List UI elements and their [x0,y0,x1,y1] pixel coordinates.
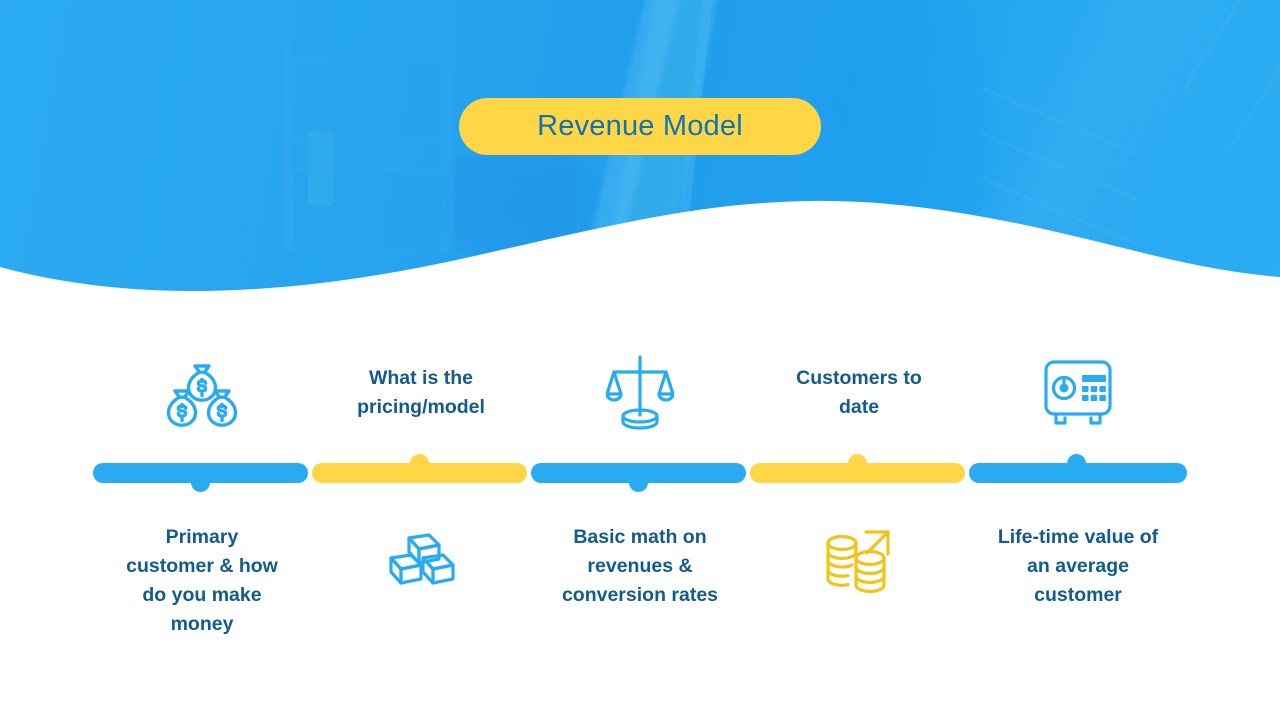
steps-container: Primary customer & how do you make money… [93,330,1187,690]
step-3-bottom: Basic math on revenues & conversion rate… [531,515,749,665]
step-5: Life-time value of an average customer [969,330,1187,690]
safe-vault-icon [1042,358,1114,428]
step-2-bottom [312,520,530,600]
slide-revenue-model: Revenue Model [0,0,1280,720]
step-1: Primary customer & how do you make money [93,330,311,690]
step-4: Customers to date [750,330,968,690]
step-4-label: Customers to date [796,364,922,422]
step-4-top: Customers to date [750,330,968,455]
step-4-bottom [750,520,968,600]
step-5-bottom: Life-time value of an average customer [969,515,1187,665]
step-3-top [531,330,749,455]
step-5-label: Life-time value of an average customer [998,523,1158,610]
step-3: Basic math on revenues & conversion rate… [531,330,749,690]
slide-title-pill: Revenue Model [459,98,821,155]
step-2: What is the pricing/model [312,330,530,690]
gold-bars-icon [385,530,457,590]
balance-scales-icon [606,354,674,432]
step-1-bottom: Primary customer & how do you make money [93,515,311,665]
step-3-label: Basic math on revenues & conversion rate… [562,523,718,610]
step-5-top [969,330,1187,455]
step-2-label: What is the pricing/model [357,364,485,422]
step-2-top: What is the pricing/model [312,330,530,455]
money-bags-icon [163,357,241,429]
coin-stacks-growth-icon [824,526,894,594]
step-1-label: Primary customer & how do you make money [126,523,278,638]
page-title: Revenue Model [537,110,743,143]
wave-divider [0,195,1280,305]
step-1-top [93,330,311,455]
